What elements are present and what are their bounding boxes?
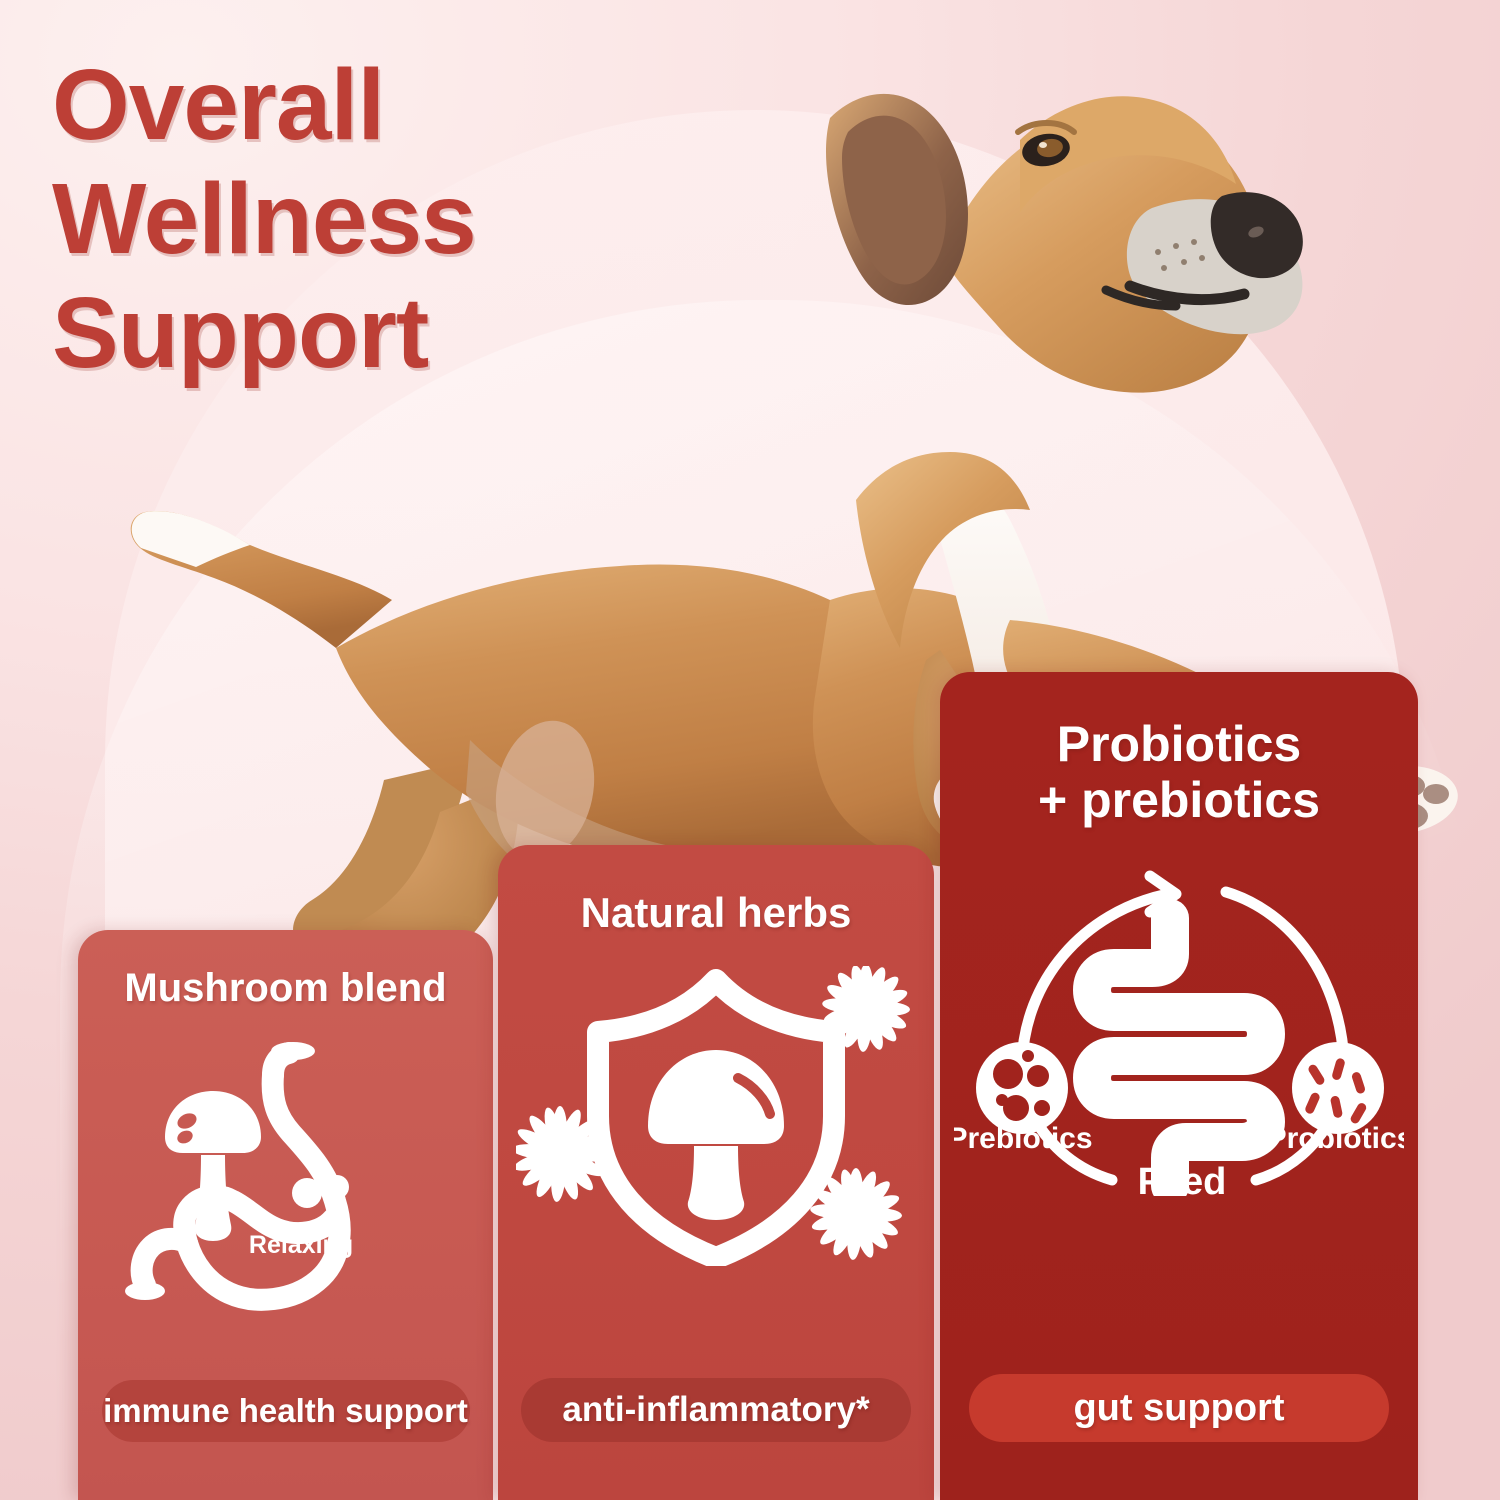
card1-icon-label: Relaxing — [248, 1231, 352, 1259]
card1-badge[interactable]: immune health support — [102, 1380, 470, 1442]
card-mushroom-blend[interactable]: Mushroom blend — [78, 930, 493, 1500]
card3-label-bottom: Feed — [1138, 1161, 1227, 1196]
stomach-mushroom-icon: Relaxing — [121, 1037, 451, 1327]
card-natural-herbs[interactable]: Natural herbs — [498, 845, 934, 1500]
card3-heading-line-2: + prebiotics — [1038, 772, 1320, 828]
card-probiotics-prebiotics[interactable]: Probiotics + prebiotics — [940, 672, 1418, 1500]
card2-badge[interactable]: anti-inflammatory* — [521, 1378, 911, 1442]
card3-label-left: Prebiotics — [954, 1122, 1093, 1155]
card3-badge[interactable]: gut support — [969, 1374, 1389, 1442]
title-line-1: Overall — [52, 48, 752, 162]
card3-label-right: Probiotics — [1267, 1122, 1404, 1155]
card3-heading-line-1: Probiotics — [1038, 716, 1320, 772]
card1-icon-wrap: Relaxing — [121, 1037, 451, 1327]
shield-mushroom-icon — [516, 966, 916, 1266]
gut-cycle-icon: Prebiotics Probiotics Feed — [954, 846, 1404, 1196]
card3-icon-wrap: Prebiotics Probiotics Feed — [954, 846, 1404, 1196]
title-line-3: Support — [52, 276, 752, 390]
infographic-canvas: Overall Wellness Support — [0, 0, 1500, 1500]
card3-heading: Probiotics + prebiotics — [1038, 716, 1320, 828]
title-line-2: Wellness — [52, 162, 752, 276]
card2-icon-wrap — [516, 966, 916, 1266]
card2-heading: Natural herbs — [581, 889, 852, 936]
page-title: Overall Wellness Support — [52, 48, 752, 390]
card1-heading: Mushroom blend — [124, 966, 446, 1011]
